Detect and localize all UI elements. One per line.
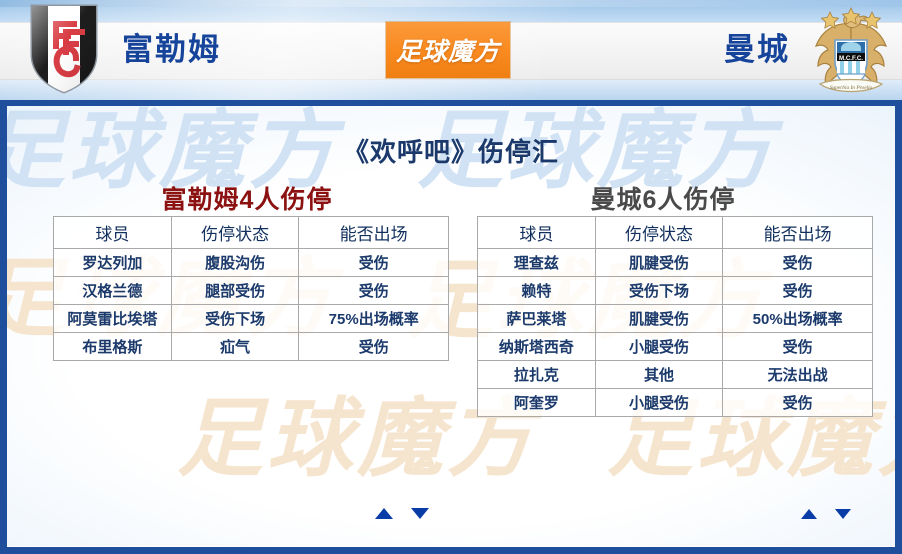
table-row: 阿莫雷比埃塔受伤下场75%出场概率: [54, 305, 449, 333]
right-scroll-controls: [794, 506, 858, 524]
table-row: 布里格斯疝气受伤: [54, 333, 449, 361]
player-name-cell: 萨巴莱塔: [478, 305, 596, 333]
table-row: 罗达列加腹股沟伤受伤: [54, 249, 449, 277]
availability-cell: 受伤: [723, 249, 873, 277]
content-stage: 足球魔方 足球魔方 足球魔方 足球魔方 足球魔方 足球魔方 《欢呼吧》伤停汇 富…: [7, 106, 895, 546]
availability-cell: 受伤: [299, 249, 449, 277]
svg-text:Superbia In Proelio: Superbia In Proelio: [830, 85, 873, 91]
player-name-cell: 布里格斯: [54, 333, 172, 361]
home-injury-table: 球员 伤停状态 能否出场 罗达列加腹股沟伤受伤汉格兰德腿部受伤受伤阿莫雷比埃塔受…: [53, 216, 449, 361]
home-section-title: 富勒姆4人伤停: [47, 180, 447, 216]
availability-cell: 受伤: [299, 333, 449, 361]
table-row: 汉格兰德腿部受伤受伤: [54, 277, 449, 305]
injury-status-cell: 腹股沟伤: [171, 249, 299, 277]
svg-text:M.C.F.C.: M.C.F.C.: [839, 55, 863, 62]
injury-status-cell: 其他: [595, 361, 723, 389]
brand-label: 足球魔方: [396, 32, 500, 68]
away-injury-table: 球员 伤停状态 能否出场 理查兹肌腱受伤受伤赖特受伤下场受伤萨巴莱塔肌腱受伤50…: [477, 216, 873, 417]
table-row: 阿奎罗小腿受伤受伤: [478, 389, 873, 417]
player-name-cell: 汉格兰德: [54, 277, 172, 305]
player-name-cell: 理查兹: [478, 249, 596, 277]
column-header-availability: 能否出场: [723, 217, 873, 249]
player-name-cell: 罗达列加: [54, 249, 172, 277]
column-header-player: 球员: [54, 217, 172, 249]
column-header-status: 伤停状态: [595, 217, 723, 249]
table-header-row: 球员 伤停状态 能否出场: [54, 217, 449, 249]
column-header-availability: 能否出场: [299, 217, 449, 249]
column-header-status: 伤停状态: [171, 217, 299, 249]
home-team-name: 富勒姆: [122, 22, 221, 78]
player-name-cell: 赖特: [478, 277, 596, 305]
scroll-up-arrow-right[interactable]: [801, 509, 817, 519]
player-name-cell: 纳斯塔西奇: [478, 333, 596, 361]
injury-status-cell: 小腿受伤: [595, 389, 723, 417]
manchester-city-crest-icon: M.C.F.C. Superbia In Proelio: [808, 4, 894, 100]
page-title: 《欢呼吧》伤停汇: [7, 132, 895, 169]
injury-status-cell: 受伤下场: [595, 277, 723, 305]
table-row: 纳斯塔西奇小腿受伤受伤: [478, 333, 873, 361]
header-top-strip: [0, 0, 902, 7]
away-section-title: 曼城6人伤停: [463, 180, 863, 216]
availability-cell: 受伤: [299, 277, 449, 305]
table-header-row: 球员 伤停状态 能否出场: [478, 217, 873, 249]
injury-status-cell: 疝气: [171, 333, 299, 361]
injury-status-cell: 腿部受伤: [171, 277, 299, 305]
availability-cell: 无法出战: [723, 361, 873, 389]
availability-cell: 受伤: [723, 277, 873, 305]
away-team-name: 曼城: [724, 22, 790, 78]
availability-cell: 受伤: [723, 389, 873, 417]
content-frame: 足球魔方 足球魔方 足球魔方 足球魔方 足球魔方 足球魔方 《欢呼吧》伤停汇 富…: [0, 100, 902, 554]
injury-report-page: 富勒姆 足球魔方 曼城: [0, 0, 902, 554]
scroll-down-arrow-right[interactable]: [835, 509, 851, 519]
injury-status-cell: 小腿受伤: [595, 333, 723, 361]
table-row: 赖特受伤下场受伤: [478, 277, 873, 305]
availability-cell: 75%出场概率: [299, 305, 449, 333]
player-name-cell: 拉扎克: [478, 361, 596, 389]
fulham-crest-icon: [26, 2, 102, 96]
table-row: 萨巴莱塔肌腱受伤50%出场概率: [478, 305, 873, 333]
brand-badge[interactable]: 足球魔方: [386, 22, 510, 78]
player-name-cell: 阿莫雷比埃塔: [54, 305, 172, 333]
player-name-cell: 阿奎罗: [478, 389, 596, 417]
column-header-player: 球员: [478, 217, 596, 249]
injury-status-cell: 肌腱受伤: [595, 249, 723, 277]
scroll-up-arrow-center[interactable]: [375, 508, 393, 519]
availability-cell: 受伤: [723, 333, 873, 361]
table-row: 理查兹肌腱受伤受伤: [478, 249, 873, 277]
center-scroll-controls: [368, 506, 436, 524]
scroll-down-arrow-center[interactable]: [411, 508, 429, 519]
injury-status-cell: 肌腱受伤: [595, 305, 723, 333]
table-row: 拉扎克其他无法出战: [478, 361, 873, 389]
injury-status-cell: 受伤下场: [171, 305, 299, 333]
availability-cell: 50%出场概率: [723, 305, 873, 333]
match-header: 富勒姆 足球魔方 曼城: [0, 0, 902, 100]
